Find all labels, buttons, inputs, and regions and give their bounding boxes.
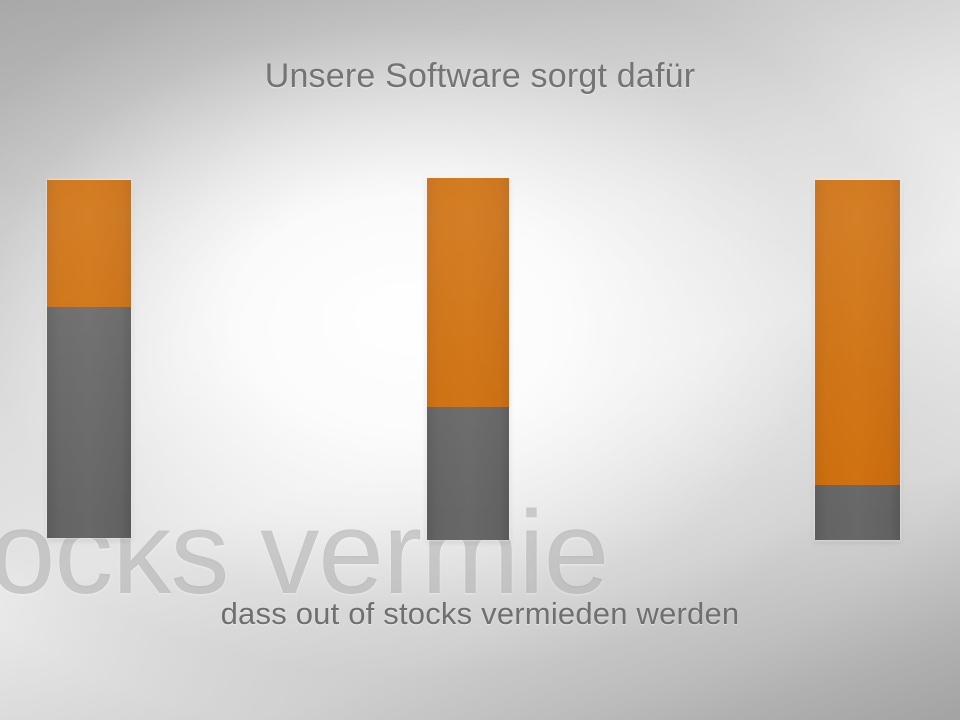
bar-1: [47, 180, 131, 538]
bar-2-orange-segment: [427, 178, 509, 407]
bar-1-orange-segment: [47, 180, 131, 307]
bar-3-gray-segment: [815, 485, 900, 540]
bar-1-gray-segment: [47, 307, 131, 538]
headline-text: Unsere Software sorgt dafür: [0, 57, 960, 96]
bar-2: [427, 178, 509, 540]
bar-2-gray-segment: [427, 407, 509, 540]
subcaption-text: dass out of stocks vermieden werden: [0, 596, 960, 632]
bar-3: [815, 180, 900, 540]
bar-3-orange-segment: [815, 180, 900, 485]
slide-canvas: tocks vermie Unsere Software sorgt dafür…: [0, 0, 960, 720]
